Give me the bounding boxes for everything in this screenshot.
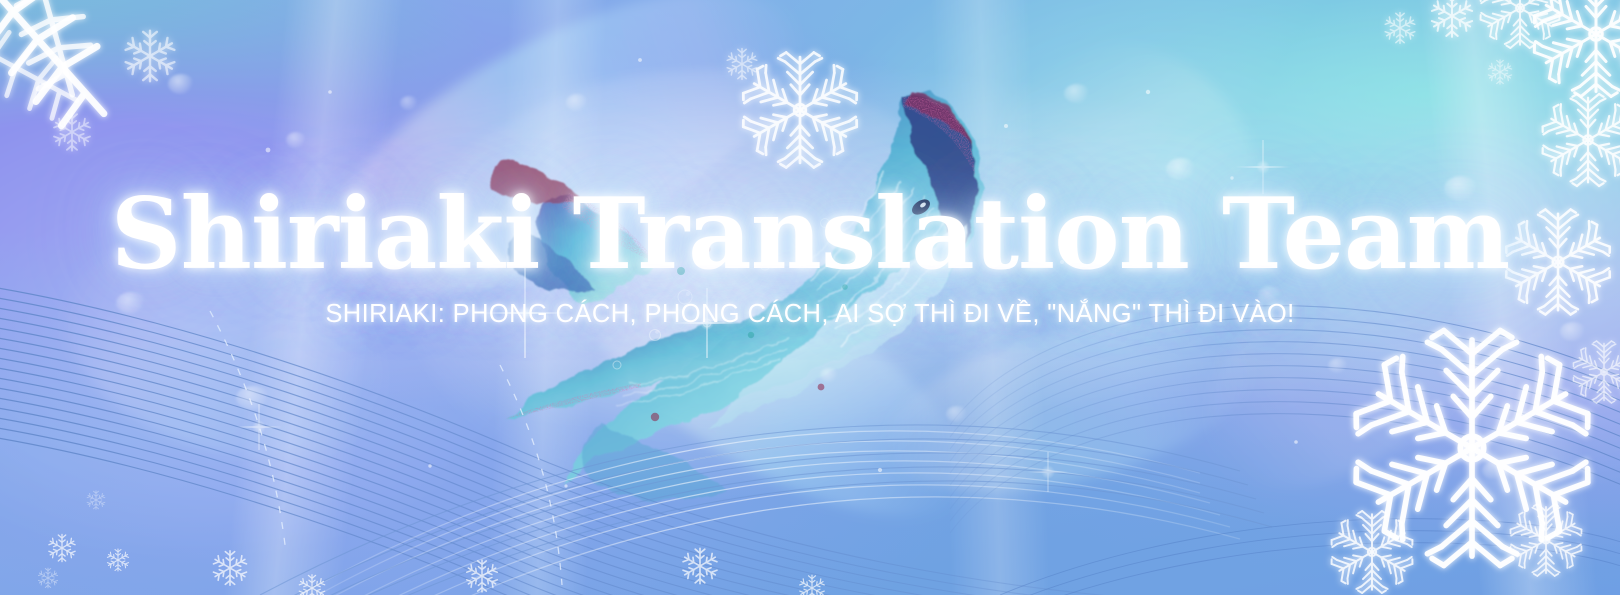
hero-text-block: Shiriaki Translation Team SHIRIAKI: PHON…: [0, 186, 1620, 329]
frost-branch-icon: [0, 0, 175, 151]
banner-hero: Shiriaki Translation Team SHIRIAKI: PHON…: [0, 0, 1620, 595]
page-title: Shiriaki Translation Team: [0, 186, 1620, 284]
snowflake-dendrite-icon: [727, 49, 861, 168]
snowflake-large-crystal-icon: [1329, 331, 1620, 594]
page-subtitle: SHIRIAKI: PHONG CÁCH, PHONG CÁCH, AI SỢ …: [0, 300, 1620, 329]
snowflake-simple-icon: [38, 491, 825, 595]
